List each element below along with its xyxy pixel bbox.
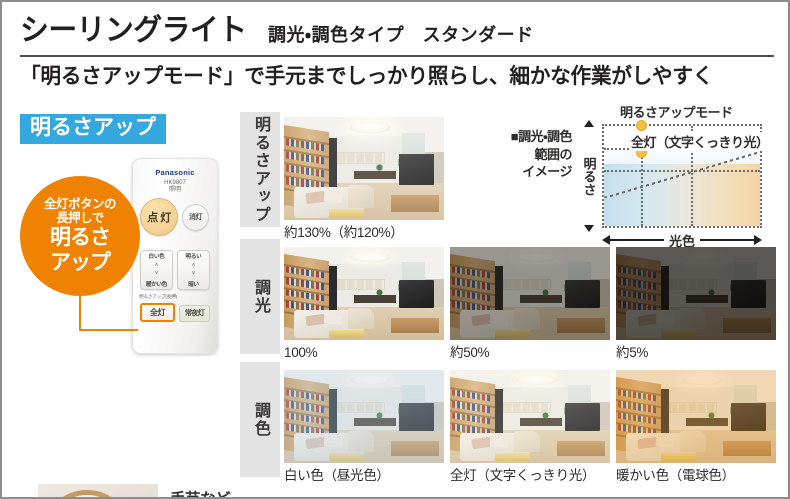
hoop-fabric [47,495,127,499]
header-title-row: シーリングライト 調光・調色タイプ スタンダード [20,16,774,46]
caption-brightness-up-130: 約130%（約120%） [284,221,403,240]
callout-leader-horizontal [79,329,138,331]
chart-dot-brightness-up [637,121,646,130]
room-scene [284,117,444,220]
caption-dimming-5: 約5% [616,341,648,360]
caption-color-all-light: 全灯（文字くっきり光） [450,464,595,483]
callout-leader-vertical [79,295,81,331]
room-scene [284,370,444,463]
chevron-up-icon: ∧ [191,263,195,268]
caption-color-daylight: 白い色（昼光色） [284,464,390,483]
photo-color-all-light [450,370,610,463]
rocker-brightness-bottom-label: 暗い [188,280,199,288]
craft-caption-line: 手芸など [170,490,230,499]
room-scene [284,247,444,340]
orange-callout-bubble: 全灯ボタンの 長押しで 明るさ アップ [20,176,140,296]
callout-line-2: 長押しで [56,211,104,225]
photo-dimming-100 [284,247,444,340]
photo-dimming-5 [616,247,776,340]
photo-color-warm [616,370,776,463]
remote-power-off-button[interactable]: 消灯 [182,204,209,231]
caption-dimming-100: 100% [284,341,317,360]
room-scene [450,370,610,463]
chart-title-line: 範囲の [488,146,572,164]
page-header: シーリングライト 調光・調色タイプ スタンダード 「明るさアップモード」で手元ま… [20,16,774,89]
arrow-down-icon [584,225,594,232]
chart-y-axis-label: 明るさ [580,157,599,196]
remote-model: HK9807 照明 [132,180,218,195]
photo-dimming-50 [450,247,610,340]
chart-x-axis: 光色 [602,232,762,248]
arrow-left-icon [602,235,610,245]
chart-title-line: ■調光・調色 [488,128,572,146]
page-title: シーリングライト [20,16,247,46]
brightness-up-badge: 明るさアップ [20,114,166,144]
craft-section: 手芸など 細かな 作業時に ぴったり [38,484,256,499]
brochure-page: シーリングライト 調光・調色タイプ スタンダード 「明るさアップモード」で手元ま… [0,0,790,499]
chevron-down-icon: ∨ [154,271,158,276]
rocker-color-top-label: 白い色 [149,252,165,260]
remote-model-sub: 照明 [132,187,218,195]
callout-line-3: 明るさ [50,226,110,250]
chart-title-line: イメージ [488,163,572,181]
remote-nightlight-button[interactable]: 常夜灯 [179,305,210,322]
rocker-brightness-top-label: 明るい [186,252,202,260]
chart-y-axis: 明るさ [580,120,598,232]
rocker-color-bottom-label: 暖かい色 [146,280,167,288]
remote-brand: Panasonic [132,168,218,177]
arrow-right-icon [754,235,762,245]
room-scene [616,247,776,340]
row-label-brightness-up: 明るさアップ [240,112,280,227]
row-label-color-temp: 調色 [240,362,280,477]
chevron-down-icon: ∨ [191,271,195,276]
caption-dimming-50: 約50% [450,341,489,360]
embroidery-hoop [42,490,132,499]
x-axis-line-left [610,239,664,241]
remote-all-light-button[interactable]: 全灯 [140,303,175,322]
dimming-color-range-chart: ■調光・調色 範囲の イメージ 明るさ 明るさアップモード 全灯（文字くっきり光… [488,114,780,242]
page-tagline: 「明るさアップモード」で手元までしっかり照らし、細かな作業がしやすく [20,65,763,89]
remote-illustration: Panasonic HK9807 照明 点 灯 消灯 白い色 ∧ ∨ 暖かい色 … [20,152,238,384]
chart-title: ■調光・調色 範囲の イメージ [488,128,572,181]
caption-color-warm: 暖かい色（電球色） [616,464,735,483]
room-scene [616,370,776,463]
remote-longpress-note: 明るさアップ(長押) [139,294,177,300]
chart-label-all-light: 全灯（文字くっきり光） [630,132,770,151]
chart-label-brightness-up-mode: 明るさアップモード [620,102,733,121]
photo-brightness-up-130 [284,117,444,220]
craft-caption: 手芸など 細かな 作業時に ぴったり [170,484,230,499]
header-divider [20,55,774,57]
chevron-up-icon: ∧ [154,263,158,268]
chart-range-upper-curve [604,152,760,198]
room-scene [450,247,610,340]
callout-line-1: 全灯ボタンの [44,197,116,211]
remote-control: Panasonic HK9807 照明 点 灯 消灯 白い色 ∧ ∨ 暖かい色 … [132,158,218,354]
x-axis-line-right [700,239,754,241]
row-label-dimming: 調光 [240,239,280,354]
arrow-up-icon [584,120,594,127]
embroidery-photo [38,484,158,499]
remote-power-on-button[interactable]: 点 灯 [140,198,178,236]
photo-color-daylight [284,370,444,463]
page-subtitle: 調光・調色タイプ スタンダード [268,26,534,46]
remote-color-rocker[interactable]: 白い色 ∧ ∨ 暖かい色 [140,250,173,290]
left-column: 明るさアップ Panasonic HK9807 照明 点 灯 消灯 白い色 ∧ … [20,114,238,384]
callout-line-4: アップ [50,251,110,275]
remote-brightness-rocker[interactable]: 明るい ∧ ∨ 暗い [177,250,210,290]
